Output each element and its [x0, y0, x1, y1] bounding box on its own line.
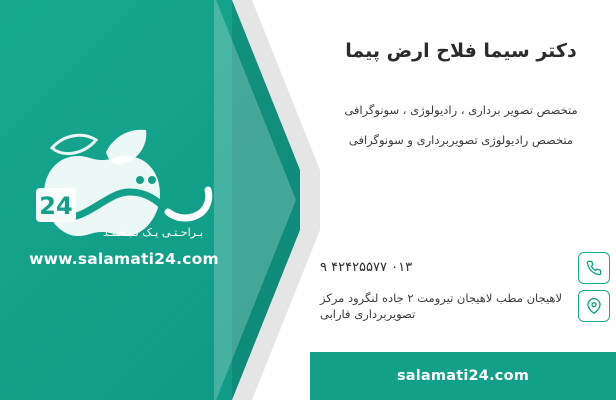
- phone-number: ۰۱۳ ۴۲۴۲۵۵۷۷ ۹: [320, 260, 570, 276]
- address-row[interactable]: لاهیجان مطب لاهیجان تیرومت ۲ جاده لنگرود…: [320, 290, 610, 322]
- logo-tagline: بـراحـتـی یـک لـبـخـنـد: [78, 226, 228, 239]
- address-text: لاهیجان مطب لاهیجان تیرومت ۲ جاده لنگرود…: [320, 290, 570, 322]
- footer-bar[interactable]: salamati24.com: [310, 352, 616, 400]
- brand-logo: 24 بـراحـتـی یـک لـبـخـنـد www.salamati2…: [18, 108, 228, 268]
- business-card: 24 بـراحـتـی یـک لـبـخـنـد www.salamati2…: [0, 0, 616, 400]
- phone-row[interactable]: ۰۱۳ ۴۲۴۲۵۵۷۷ ۹: [320, 252, 610, 284]
- card-details: دکتر سیما فلاح ارض پیما متخصص تصویر بردا…: [310, 0, 616, 400]
- map-pin-icon: [578, 290, 610, 322]
- footer-site: salamati24.com: [397, 368, 529, 384]
- doctor-name: دکتر سیما فلاح ارض پیما: [320, 40, 602, 62]
- doctor-specialty-1: متخصص تصویر برداری ، رادیولوژی ، سونوگرا…: [320, 100, 602, 120]
- phone-icon: [578, 252, 610, 284]
- logo-url[interactable]: www.salamati24.com: [26, 250, 222, 268]
- doctor-specialty-2: متخصص رادیولوژی تصویربرداری و سونوگرافی: [320, 130, 602, 150]
- logo-number-text: 24: [39, 192, 72, 220]
